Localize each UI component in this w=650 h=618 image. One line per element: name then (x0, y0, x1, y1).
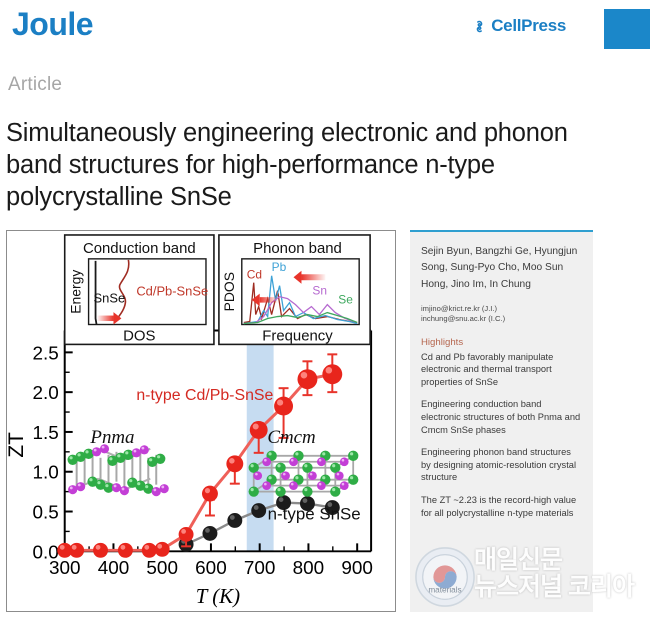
zt-vs-temperature-chart: 300 400 500 600 700 800 900 0.0 0.5 1.0 … (7, 231, 395, 611)
phonon-label-cd: Cd (247, 268, 262, 282)
xtick-400: 400 (98, 558, 130, 579)
highlight-item-2: Engineering conduction band electronic s… (421, 398, 582, 436)
correspondence-emails: imjino@krict.re.kr (J.I.) inchung@snu.ac… (421, 304, 582, 325)
author-list: Sejin Byun, Bangzhi Ge, Hyungjun Song, S… (421, 244, 582, 293)
inset-phonon-band: Phonon band PDOS Frequency Cd Pb Sn Se (219, 235, 370, 344)
cellpress-link-icon (472, 19, 487, 34)
crystal-structure-pnma (68, 444, 169, 496)
highlights-heading: Highlights (421, 337, 582, 348)
highlight-item-4: The ZT ~2.23 is the record-high value fo… (421, 494, 582, 519)
masthead: Joule CellPress (0, 0, 650, 58)
journal-logo[interactable]: Joule (12, 6, 93, 43)
y-axis-tick-labels: 0.0 0.5 1.0 1.5 2.0 2.5 (32, 343, 58, 563)
inset-right-xlabel: Frequency (262, 327, 333, 344)
email-line-2[interactable]: inchung@snu.ac.kr (I.C.) (421, 314, 582, 324)
inset-right-ylabel: PDOS (221, 272, 237, 311)
inset-conduction-band: Conduction band Energy DOS SnSe Cd/Pb-Sn… (65, 235, 214, 344)
ytick-0-5: 0.5 (32, 502, 58, 523)
crystal-label-pnma: Pnma (89, 427, 134, 448)
ytick-1-5: 1.5 (32, 423, 58, 444)
highlight-item-1: Cd and Pb favorably manipulate electroni… (421, 351, 582, 389)
pnma-sn-atoms (68, 444, 169, 496)
inset-right-title: Phonon band (253, 240, 342, 257)
article-kicker: Article (8, 74, 62, 96)
cellpress-logo[interactable]: CellPress (472, 16, 566, 36)
ytick-1-0: 1.0 (32, 463, 58, 484)
y-axis-label: ZT (7, 432, 28, 458)
xtick-600: 600 (195, 558, 227, 579)
page-root: Joule CellPress Article Simultaneously e… (0, 0, 650, 618)
phonon-label-se: Se (338, 293, 353, 307)
accent-square (604, 9, 650, 49)
inset-left-ylabel: Energy (68, 270, 84, 314)
highlight-item-3: Engineering phonon band structures by de… (421, 446, 582, 484)
xtick-500: 500 (146, 558, 178, 579)
inset-left-label-snse: SnSe (94, 291, 126, 306)
page-title: Simultaneously engineering electronic an… (6, 117, 626, 213)
ytick-2-5: 2.5 (32, 343, 58, 364)
phonon-label-sn: Sn (312, 284, 327, 298)
ytick-0-0: 0.0 (32, 542, 58, 563)
inset-left-label-cdpb: Cd/Pb-SnSe (136, 284, 208, 299)
email-line-1[interactable]: imjino@krict.re.kr (J.I.) (421, 304, 582, 314)
x-axis-tick-labels: 300 400 500 600 700 800 900 (49, 558, 373, 579)
graphical-abstract-figure: 300 400 500 600 700 800 900 0.0 0.5 1.0 … (6, 230, 396, 612)
annotation-n-type-snse: n-type SnSe (268, 504, 361, 523)
xtick-700: 700 (244, 558, 276, 579)
phonon-label-pb: Pb (272, 260, 287, 274)
inset-left-title: Conduction band (83, 240, 196, 257)
x-axis-label: T (K) (196, 584, 240, 608)
annotation-cd-pb-snse: n-type Cd/Pb-SnSe (136, 387, 273, 404)
ytick-2-0: 2.0 (32, 383, 58, 404)
cellpress-wordmark: CellPress (491, 16, 566, 36)
crystal-label-cmcm: Cmcm (267, 427, 315, 448)
xtick-900: 900 (341, 558, 373, 579)
article-info-panel: Sejin Byun, Bangzhi Ge, Hyungjun Song, S… (410, 230, 593, 612)
inset-left-xlabel: DOS (123, 327, 155, 344)
xtick-800: 800 (293, 558, 325, 579)
